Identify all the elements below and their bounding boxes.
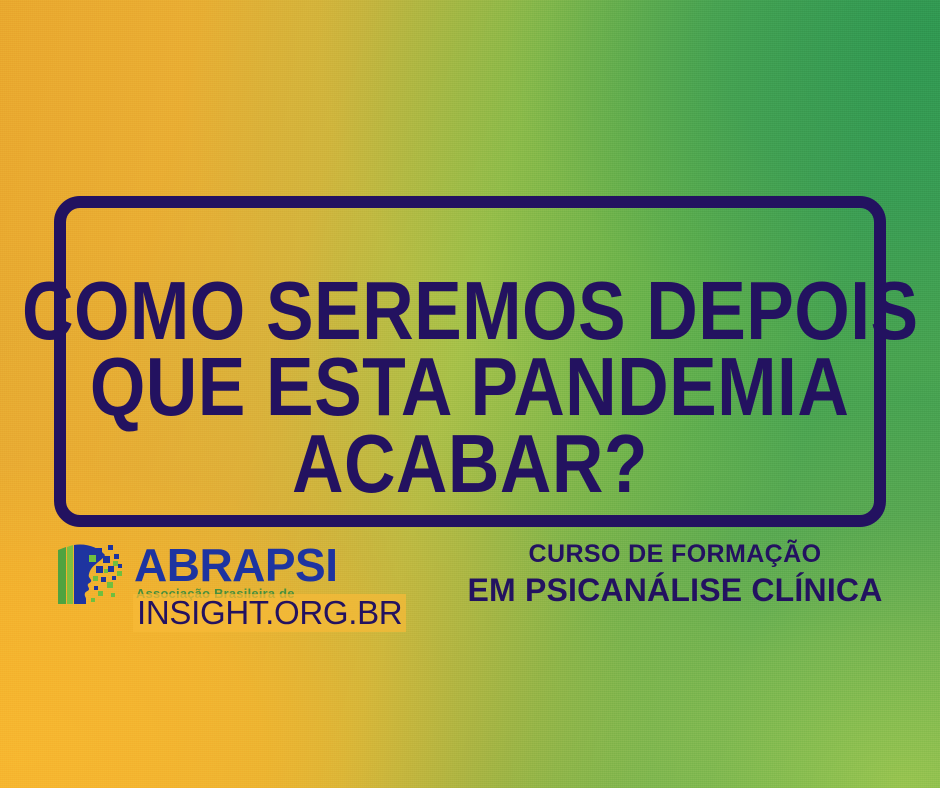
headline-line-3: ACABAR? xyxy=(292,426,648,502)
course-line-2: EM PSICANÁLISE CLÍNICA xyxy=(460,570,890,610)
abrapsi-logo[interactable]: ABRAPSI Associação Brasileira de INSIGHT… xyxy=(56,540,376,632)
poster-canvas: COMO SEREMOS DEPOIS QUE ESTA PANDEMIA AC… xyxy=(0,0,940,788)
headline-line-1: COMO SEREMOS DEPOIS xyxy=(22,273,919,349)
abrapsi-website-url[interactable]: INSIGHT.ORG.BR xyxy=(133,594,406,632)
course-line-1: CURSO DE FORMAÇÃO xyxy=(460,538,890,570)
course-title-block: CURSO DE FORMAÇÃO EM PSICANÁLISE CLÍNICA xyxy=(460,538,890,610)
headline-line-2: QUE ESTA PANDEMIA xyxy=(90,349,849,425)
face-profile-pixel-icon xyxy=(56,542,130,608)
abrapsi-wordmark: ABRAPSI xyxy=(134,540,338,590)
headline-block: COMO SEREMOS DEPOIS QUE ESTA PANDEMIA AC… xyxy=(54,196,886,527)
